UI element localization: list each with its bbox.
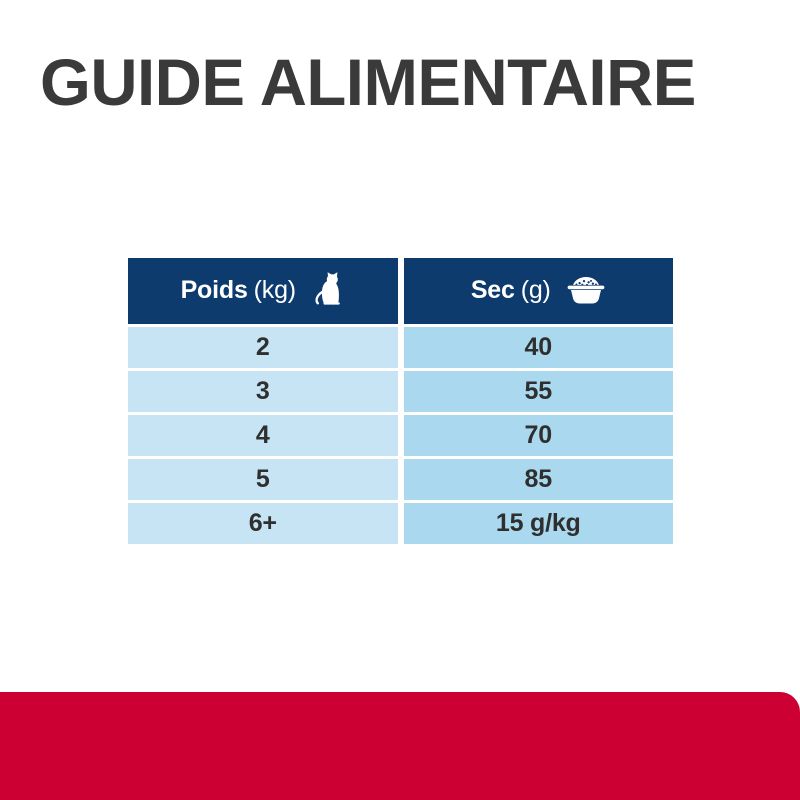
table-header-label-dry: Sec: [471, 276, 515, 305]
table-row: 4 70: [128, 415, 673, 456]
cell-dry: 15 g/kg: [404, 503, 674, 544]
cell-dry: 55: [404, 371, 674, 412]
table-row: 3 55: [128, 371, 673, 412]
feeding-guide-table: Poids (kg): [128, 258, 673, 544]
table-header-row: Poids (kg): [128, 258, 673, 324]
page-title: GUIDE ALIMENTAIRE: [40, 48, 773, 116]
table-row: 6+ 15 g/kg: [128, 503, 673, 544]
cell-weight: 3: [128, 371, 398, 412]
cell-weight: 4: [128, 415, 398, 456]
table-header-unit-dry: (g): [521, 276, 551, 305]
table-header-cell-weight: Poids (kg): [128, 258, 398, 324]
table-row: 2 40: [128, 327, 673, 368]
table-header-label-weight: Poids: [181, 276, 248, 305]
table-header-unit-weight: (kg): [254, 276, 296, 305]
cell-weight: 5: [128, 459, 398, 500]
food-bowl-icon: [566, 275, 606, 305]
bottom-red-band: [0, 692, 800, 800]
cell-dry: 85: [404, 459, 674, 500]
feeding-guide-page: GUIDE ALIMENTAIRE Poids (kg): [0, 0, 800, 800]
table-row: 5 85: [128, 459, 673, 500]
cat-icon: [311, 271, 345, 309]
cell-weight: 6+: [128, 503, 398, 544]
cell-weight: 2: [128, 327, 398, 368]
table-header-cell-dry: Sec (g): [404, 258, 674, 324]
cell-dry: 70: [404, 415, 674, 456]
cell-dry: 40: [404, 327, 674, 368]
